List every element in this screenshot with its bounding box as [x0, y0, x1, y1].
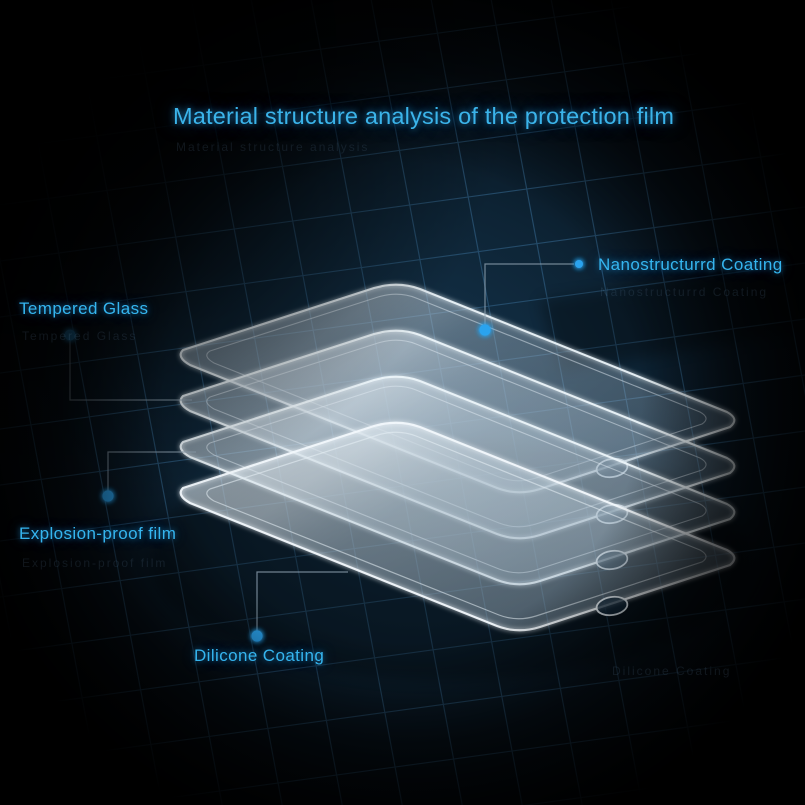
infographic-canvas: Material structure analysis of the prote…	[0, 0, 805, 805]
label-explosion-proof-film: Explosion-proof film	[19, 524, 176, 544]
page-title: Material structure analysis of the prote…	[173, 103, 674, 130]
ghost-tempered-glass: Tempered Glass	[22, 329, 137, 343]
ghost-dilicone-coating: Dilicone Coating	[612, 664, 731, 678]
label-tempered-glass: Tempered Glass	[19, 299, 148, 319]
ghost-nanostructurrd-coating: Nanostructurrd Coating	[600, 285, 768, 299]
label-dilicone-coating: Dilicone Coating	[194, 646, 324, 666]
label-nanostructurrd-coating: Nanostructurrd Coating	[598, 255, 783, 275]
ghost-explosion-proof-film: Explosion-proof film	[22, 556, 167, 570]
ghost-title-reflection: Material structure analysis	[176, 140, 369, 154]
